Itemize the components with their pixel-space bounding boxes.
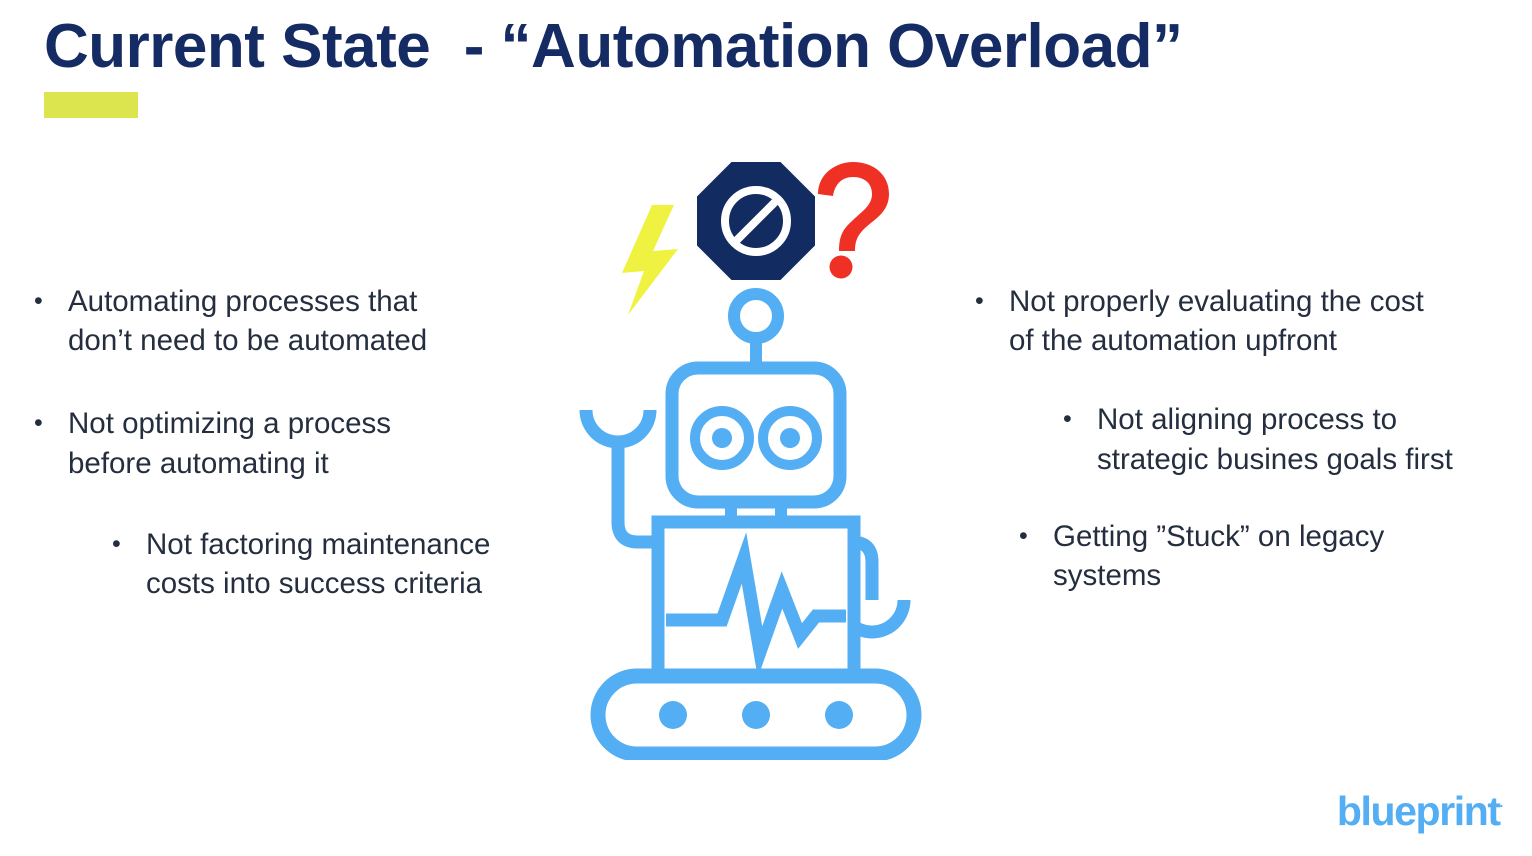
bullet-marker: • <box>1019 517 1053 556</box>
list-item: • Not properly evaluating the cost of th… <box>975 282 1505 360</box>
bullet-marker: • <box>112 525 146 564</box>
list-item-text: Automating processes that don’t need to … <box>68 282 544 360</box>
robot-arm-left <box>586 410 660 542</box>
logo-registered-mark: · <box>1500 798 1504 813</box>
list-item: • Getting ”Stuck” on legacy systems <box>1019 517 1505 595</box>
robot-head <box>672 368 840 502</box>
list-item-text: Not optimizing a process before automati… <box>68 404 544 482</box>
logo-text: blueprint <box>1337 788 1500 834</box>
bullet-column-right: • Not properly evaluating the cost of th… <box>975 282 1505 595</box>
bullet-marker: • <box>975 282 1009 321</box>
stop-sign-icon <box>697 162 815 280</box>
bullet-column-left: • Automating processes that don’t need t… <box>34 282 544 603</box>
slide: Current State - “Automation Overload” • … <box>0 0 1532 856</box>
robot-base <box>598 676 914 754</box>
bullet-marker: • <box>1063 400 1097 439</box>
list-item: • Not aligning process to strategic busi… <box>1063 400 1505 478</box>
robot-wheel-2 <box>742 701 770 729</box>
title-accent-bar <box>44 92 138 118</box>
list-item-text: Not factoring maintenance costs into suc… <box>146 525 544 603</box>
list-item-text: Not aligning process to strategic busine… <box>1097 400 1505 478</box>
bullet-marker: • <box>34 282 68 321</box>
overloaded-robot-illustration <box>556 150 956 760</box>
robot-wheel-1 <box>659 701 687 729</box>
lightning-bolt-icon <box>622 205 678 315</box>
list-item: • Not optimizing a process before automa… <box>34 404 544 482</box>
spacer <box>34 360 544 404</box>
bullet-marker: • <box>34 404 68 443</box>
question-mark-icon <box>818 162 889 279</box>
list-item-text: Not properly evaluating the cost of the … <box>1009 282 1505 360</box>
list-item: • Not factoring maintenance costs into s… <box>112 525 544 603</box>
list-item-text: Getting ”Stuck” on legacy systems <box>1053 517 1505 595</box>
list-item: • Automating processes that don’t need t… <box>34 282 544 360</box>
spacer <box>975 479 1505 517</box>
robot-antenna <box>734 294 778 372</box>
robot-wheel-3 <box>825 701 853 729</box>
page-title: Current State - “Automation Overload” <box>44 8 1182 86</box>
spacer <box>34 483 544 525</box>
spacer <box>975 360 1505 400</box>
blueprint-logo: blueprint· <box>1337 791 1504 832</box>
